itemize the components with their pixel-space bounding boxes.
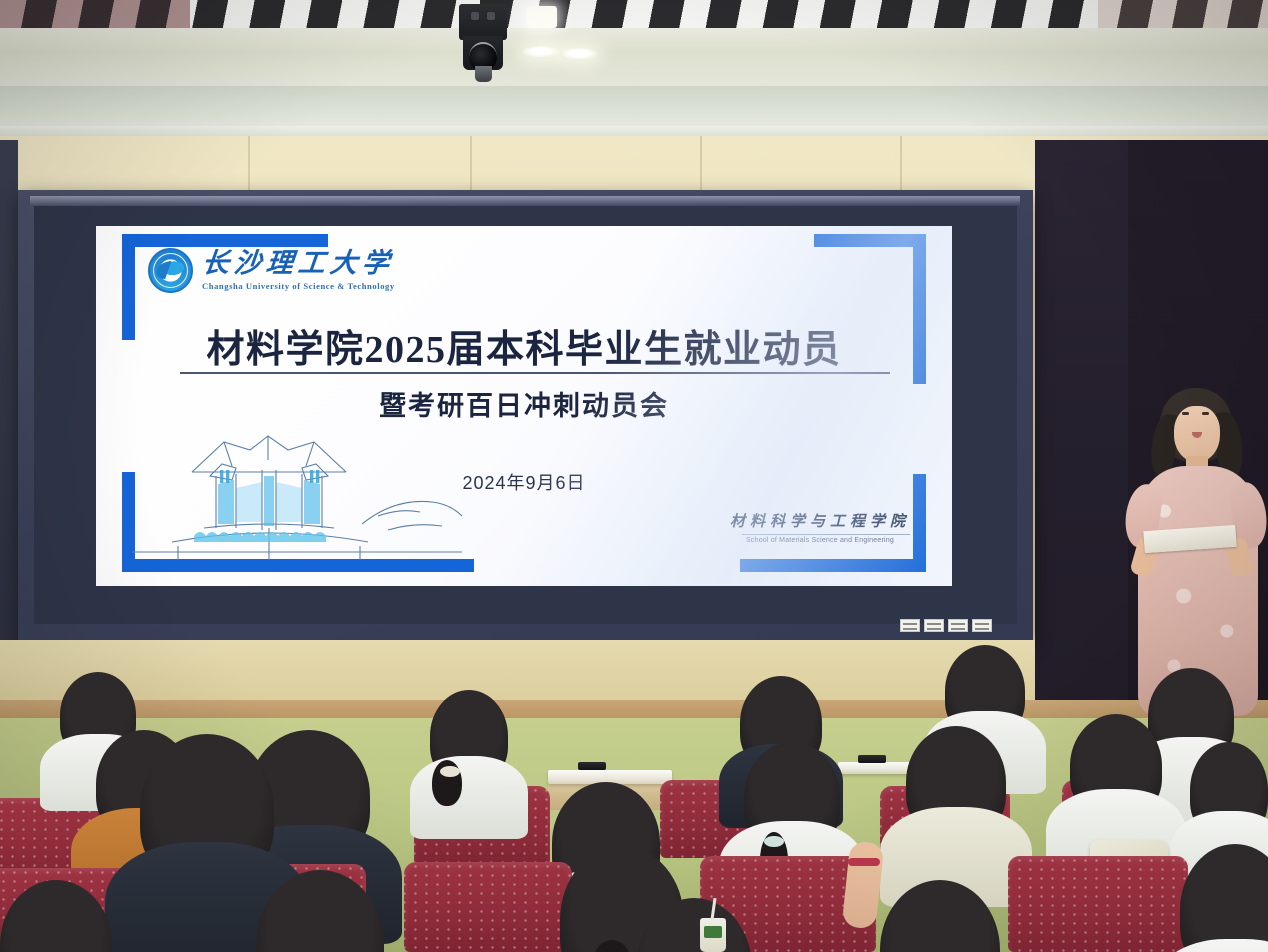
- hair: [880, 880, 1000, 952]
- audience-head: [906, 726, 1006, 838]
- slide-bracket-top-left-h: [122, 234, 328, 247]
- audience-head-foreground: [140, 734, 274, 884]
- presenter-eye-left: [1182, 412, 1189, 415]
- placard: [948, 619, 968, 632]
- ceiling-slats-left: [0, 0, 190, 30]
- slide-title-divider: [180, 372, 890, 374]
- audience-head-foreground: [256, 870, 384, 952]
- hair-tie: [764, 836, 784, 847]
- projector-port-1: [471, 12, 479, 20]
- university-logo: 长沙理工大学 Changsha University of Science & …: [148, 248, 395, 293]
- projector-port-2: [487, 12, 495, 20]
- ceiling-downlight-2: [560, 48, 598, 60]
- placard: [900, 619, 920, 632]
- screen-bezel-gloss: [30, 196, 1020, 206]
- ceiling-slats-right: [1098, 0, 1268, 30]
- projector-icon: [455, 4, 511, 84]
- desk: [838, 762, 914, 774]
- wall-panel-dark-left: [0, 140, 18, 700]
- stage-wall-front: [0, 640, 1035, 702]
- department-divider: [742, 534, 910, 535]
- slide-subtitle: 暨考研百日冲刺动员会: [96, 384, 952, 423]
- placard: [972, 619, 992, 632]
- audience-head-foreground: [1180, 844, 1268, 952]
- ceiling-slats: [0, 0, 1268, 30]
- projector-body: [459, 4, 507, 40]
- seat: [404, 862, 572, 952]
- hair: [0, 880, 112, 952]
- hair: [636, 898, 752, 952]
- shirt: [410, 756, 529, 839]
- phone: [858, 755, 886, 763]
- projector-mount: [475, 66, 492, 82]
- lecture-hall-photo: 长沙理工大学 Changsha University of Science & …: [0, 0, 1268, 952]
- hair: [1180, 844, 1268, 952]
- ceiling-light-recessed: [527, 6, 557, 28]
- university-emblem-icon: [148, 248, 193, 293]
- audience-head: [945, 645, 1025, 737]
- phone: [578, 762, 606, 770]
- seat: [1008, 856, 1188, 952]
- audience-head: [1070, 714, 1162, 818]
- slide-bracket-bottom-left-h: [122, 559, 474, 572]
- hair: [256, 870, 384, 952]
- campus-building-sketch: [132, 424, 462, 560]
- audience-head: [744, 742, 840, 852]
- placard: [924, 619, 944, 632]
- drink-cup: [700, 918, 726, 952]
- presentation-slide: 长沙理工大学 Changsha University of Science & …: [96, 226, 952, 586]
- slide-bracket-top-right-h: [814, 234, 926, 247]
- ceiling-beam: [0, 28, 1268, 88]
- department-signature: 材料科学与工程学院 School of Materials Science an…: [730, 510, 910, 544]
- slide-bracket-bottom-right-h: [740, 559, 926, 572]
- audience-head: [1190, 742, 1268, 838]
- department-name-en: School of Materials Science and Engineer…: [730, 537, 910, 544]
- audience-head-foreground: [880, 880, 1000, 952]
- wall-placards: [900, 619, 992, 632]
- hair-tie: [440, 766, 460, 777]
- presenter-eye-right: [1202, 412, 1209, 415]
- audience-head-foreground: [636, 898, 752, 952]
- university-name-en: Changsha University of Science & Technol…: [202, 282, 395, 291]
- university-name-cn: 长沙理工大学: [201, 250, 397, 277]
- wrist-bracelet: [848, 858, 880, 866]
- slide-title: 材料学院2025届本科毕业生就业动员: [96, 318, 952, 373]
- ceiling-downlight-1: [522, 46, 560, 58]
- audience-head-foreground: [0, 880, 112, 952]
- university-logo-text: 长沙理工大学 Changsha University of Science & …: [202, 250, 395, 291]
- department-name-cn: 材料科学与工程学院: [730, 510, 910, 531]
